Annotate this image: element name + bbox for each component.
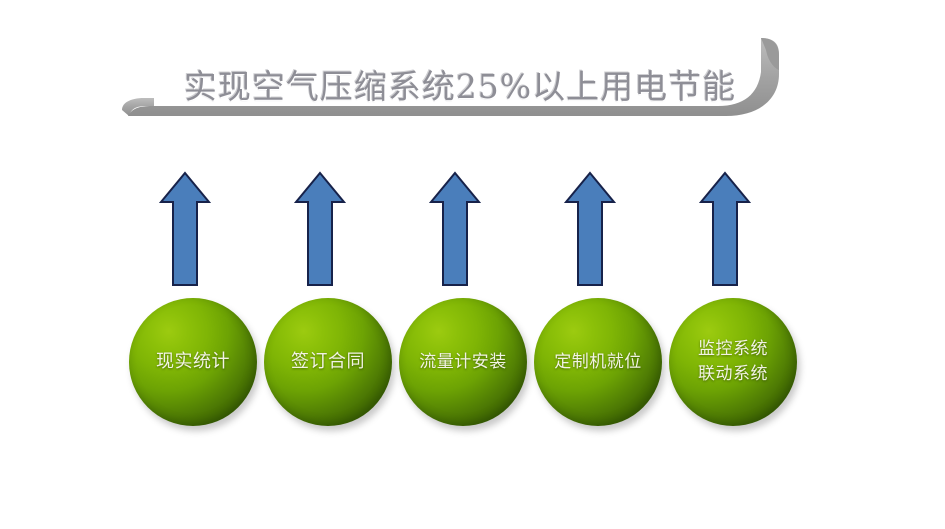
steps-row: 现实统计 签订合同 流量计安装 定制机就位 监控系统 联动系统: [0, 0, 945, 529]
step-circle-2[interactable]: 签订合同: [264, 298, 392, 426]
step-circle-3[interactable]: 流量计安装: [399, 298, 527, 426]
step-label-2: 签订合同: [291, 350, 365, 374]
step-label-1: 现实统计: [156, 350, 230, 374]
step-label-5: 监控系统 联动系统: [698, 337, 768, 387]
step-circle-1[interactable]: 现实统计: [129, 298, 257, 426]
step-label-3: 流量计安装: [419, 350, 507, 374]
step-circle-4[interactable]: 定制机就位: [534, 298, 662, 426]
slide-canvas: 实现空气压缩系统25%以上用电节能: [0, 0, 945, 529]
step-label-4: 定制机就位: [554, 350, 642, 374]
step-circle-5[interactable]: 监控系统 联动系统: [669, 298, 797, 426]
